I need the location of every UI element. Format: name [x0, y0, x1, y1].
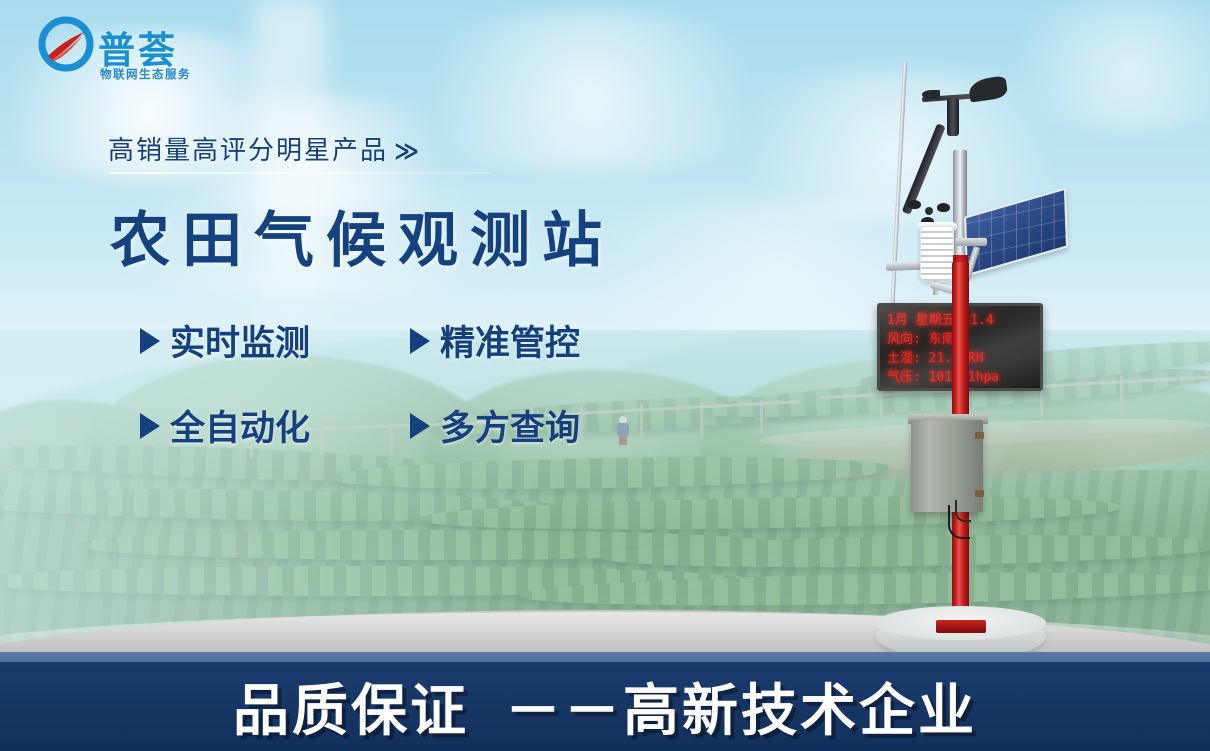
feature-item-query: 多方查询	[410, 400, 680, 451]
triangle-bullet-icon	[410, 328, 430, 354]
feature-row: 全自动化 多方查询	[140, 400, 680, 451]
anemometer-hub	[925, 207, 933, 215]
wind-vane-tail	[968, 75, 1009, 102]
page-title: 农田气候观测站	[110, 192, 614, 279]
triangle-bullet-icon	[140, 328, 160, 354]
control-cabinet	[911, 420, 983, 512]
feature-label: 精准管控	[440, 315, 580, 366]
bottom-banner: 品质保证－－高新技术企业	[0, 662, 1210, 751]
feature-row: 实时监测 精准管控	[140, 315, 680, 366]
feature-item-realtime: 实时监测	[140, 315, 410, 366]
solar-panel	[964, 188, 1068, 277]
lightning-rod-icon	[889, 62, 907, 337]
hero-eyebrow: 高销量高评分明星产品≫	[108, 130, 421, 167]
banner-left-text: 品质保证	[233, 679, 469, 744]
banner-text: 品质保证－－高新技术企业	[233, 666, 977, 747]
power-cable	[955, 500, 971, 522]
promo-banner-stage: 1月 星期五 11.4 风向: 东南 土湿: 21.1%RH 气压: 1014.…	[0, 0, 1210, 751]
feature-label: 多方查询	[440, 400, 580, 451]
cabinet-bracket	[975, 490, 984, 497]
hero-eyebrow-text: 高销量高评分明星产品	[108, 136, 388, 166]
feature-list: 实时监测 精准管控 全自动化 多方查询	[140, 315, 680, 485]
radiation-shield	[920, 226, 954, 282]
anemometer-cup	[937, 203, 950, 212]
wind-vane-nose	[922, 90, 940, 99]
cabinet-bracket	[975, 432, 984, 439]
brand-tagline: 物联网生态服务	[100, 66, 191, 82]
pole-base-flange	[936, 620, 986, 633]
triangle-bullet-icon	[410, 413, 430, 439]
feature-item-automation: 全自动化	[140, 400, 410, 451]
brand-logo[interactable]: 普荟 物联网生态服务	[38, 14, 238, 80]
anemometer-cup	[908, 200, 921, 209]
hero-divider	[110, 172, 490, 174]
triangle-bullet-icon	[140, 413, 160, 439]
feature-label: 全自动化	[170, 400, 310, 451]
feature-item-precision: 精准管控	[410, 315, 680, 366]
banner-top-strip	[0, 652, 1210, 662]
circle-swoosh-logo-icon	[38, 16, 94, 72]
banner-right-text: 高新技术企业	[623, 679, 977, 744]
wind-vane-body	[947, 98, 959, 136]
feature-label: 实时监测	[170, 315, 310, 366]
banner-separator: －－	[505, 679, 623, 744]
solar-panel-mount	[955, 238, 987, 246]
chevron-right-icon: ≫	[394, 137, 421, 165]
